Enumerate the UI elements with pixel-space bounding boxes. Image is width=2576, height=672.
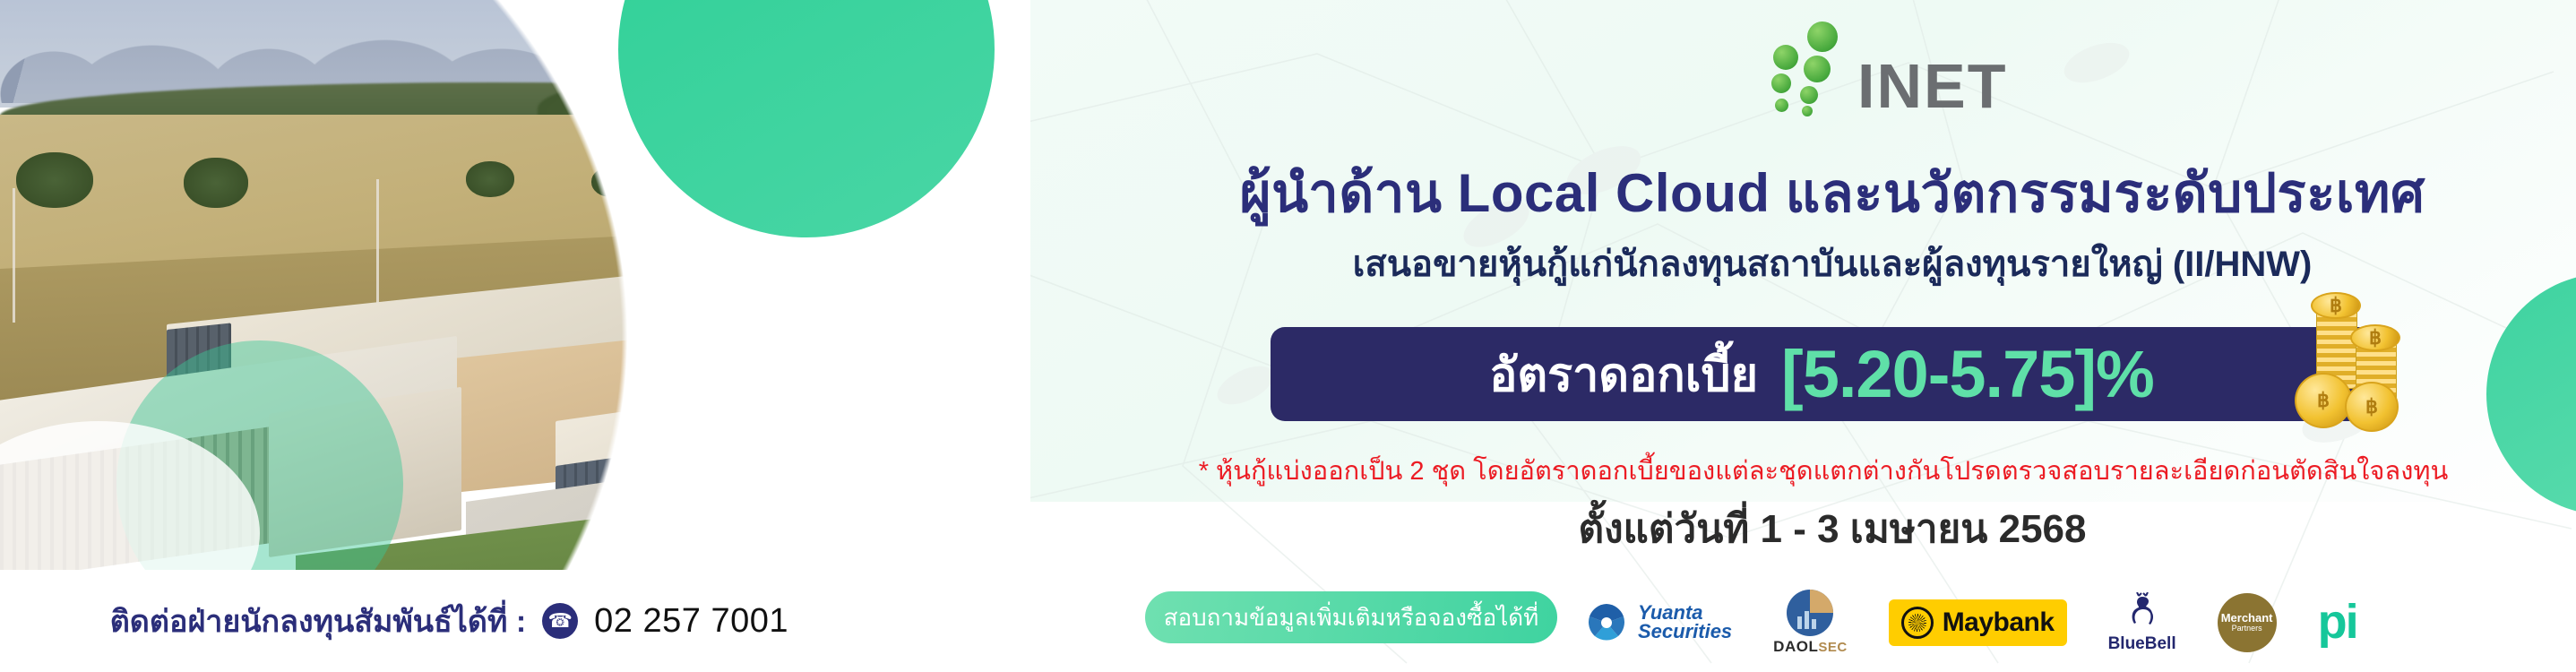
partner-logo-yuanta[interactable]: Yuanta Securities — [1586, 582, 1732, 663]
partner-logo-pi[interactable]: pi — [2318, 582, 2357, 663]
daol-text-sub: SEC — [1818, 640, 1847, 655]
offering-dateline: ตั้งแต่วันที่ 1 - 3 เมษายน 2568 — [1196, 497, 2468, 560]
yuanta-mark-icon — [1586, 602, 1627, 643]
merchant-line1: Merchant — [2221, 612, 2273, 625]
partner-logo-merchant-partners[interactable]: Merchant Partners — [2218, 582, 2277, 663]
inet-logo-bubbles-icon — [1761, 20, 1868, 116]
partner-logo-daol[interactable]: DAOLSEC — [1773, 582, 1848, 663]
contact-cta-button[interactable]: สอบถามข้อมูลเพิ่มเติมหรือจองซื้อได้ที่ — [1145, 591, 1557, 643]
pi-wordmark: pi — [2318, 603, 2357, 642]
interest-rate-label: อัตราดอกเบี้ย — [1489, 337, 1758, 411]
partner-logos: Yuanta Securities DAOLSEC — [1586, 582, 2357, 663]
bluebell-wordmark: BlueBell — [2108, 634, 2176, 654]
partner-logo-maybank[interactable]: Maybank — [1889, 582, 2067, 663]
inet-logo: INET — [1761, 20, 2056, 118]
contact-phone-number[interactable]: 02 257 7001 — [594, 602, 788, 641]
interest-rate-box: อัตราดอกเบี้ย [5.20-5.75]% — [1271, 327, 2373, 421]
bluebell-deer-icon — [2124, 592, 2160, 632]
promo-banner: INET ผู้นำด้าน Local Cloud และนวัตกรรมระ… — [0, 0, 2576, 672]
partner-logo-bluebell[interactable]: BlueBell — [2108, 582, 2176, 663]
interest-rate-value: [5.20-5.75]% — [1781, 336, 2154, 412]
inet-logo-wordmark: INET — [1857, 50, 2007, 122]
daol-mark-icon — [1787, 590, 1833, 636]
yuanta-line2: Securities — [1638, 623, 1732, 642]
subheadline: เสนอขายหุ้นกู้แก่นักลงทุนสถาบันและผู้ลงท… — [1196, 235, 2468, 292]
daol-text-main: DAOL — [1773, 638, 1818, 655]
investor-relations-contact: ติดต่อฝ่ายนักลงทุนสัมพันธ์ได้ที่ : ☎ 02 … — [0, 570, 842, 672]
headline: ผู้นำด้าน Local Cloud และนวัตกรรมระดับปร… — [1196, 151, 2468, 236]
gold-coins-icon: ฿ ฿ ฿ ฿ — [2289, 296, 2424, 430]
maybank-wordmark: Maybank — [1943, 607, 2055, 638]
disclaimer-note: * หุ้นกู้แบ่งออกเป็น 2 ชุด โดยอัตราดอกเบ… — [1124, 450, 2522, 491]
phone-icon: ☎ — [542, 603, 578, 639]
contact-label: ติดต่อฝ่ายนักลงทุนสัมพันธ์ได้ที่ : — [110, 597, 526, 645]
maybank-tiger-icon — [1901, 607, 1934, 639]
merchant-line2: Partners — [2232, 625, 2262, 633]
